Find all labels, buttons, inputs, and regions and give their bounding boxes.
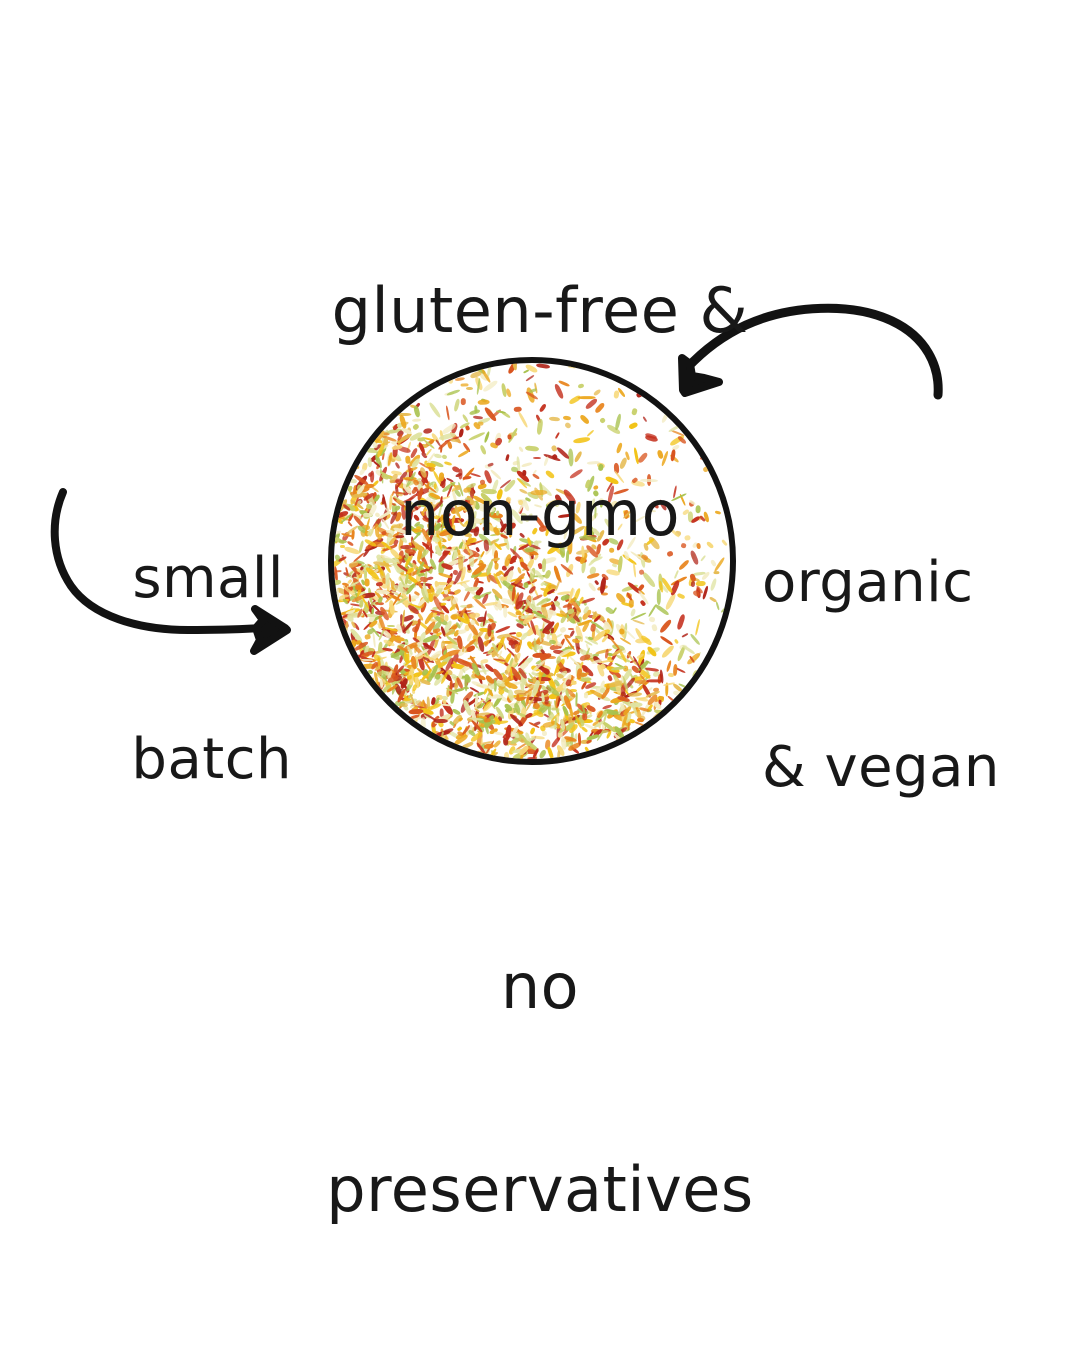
spice-flake (487, 695, 503, 699)
poster-canvas: gluten-free & non-gmo small batch organi… (0, 0, 1080, 1080)
spice-flake (484, 717, 491, 722)
label-line: & vegan (762, 738, 1080, 798)
spice-flake (666, 695, 678, 705)
spice-flake (557, 750, 560, 762)
spice-flake (529, 727, 536, 735)
spice-flake (634, 721, 646, 727)
spice-flake (493, 731, 503, 735)
spice-flake (547, 746, 555, 759)
label-line: preservatives (0, 1157, 1080, 1224)
spice-flake (584, 746, 589, 753)
spice-flake (541, 731, 546, 736)
spice-flake (574, 692, 577, 707)
label-line: small (0, 549, 292, 609)
label-line: organic (762, 553, 1080, 613)
label-line: gluten-free & (0, 278, 1080, 345)
spice-flake (400, 703, 408, 707)
spice-flake (434, 719, 448, 723)
label-no-preservatives: no preservatives (0, 820, 1080, 1358)
spice-flake (516, 694, 519, 700)
spice-flake (504, 751, 509, 762)
spice-flake (538, 749, 547, 760)
spice-flake (420, 717, 425, 732)
label-line: no (0, 954, 1080, 1021)
spice-flake (584, 692, 589, 698)
spice-flake (484, 743, 494, 749)
label-line: batch (0, 730, 292, 790)
